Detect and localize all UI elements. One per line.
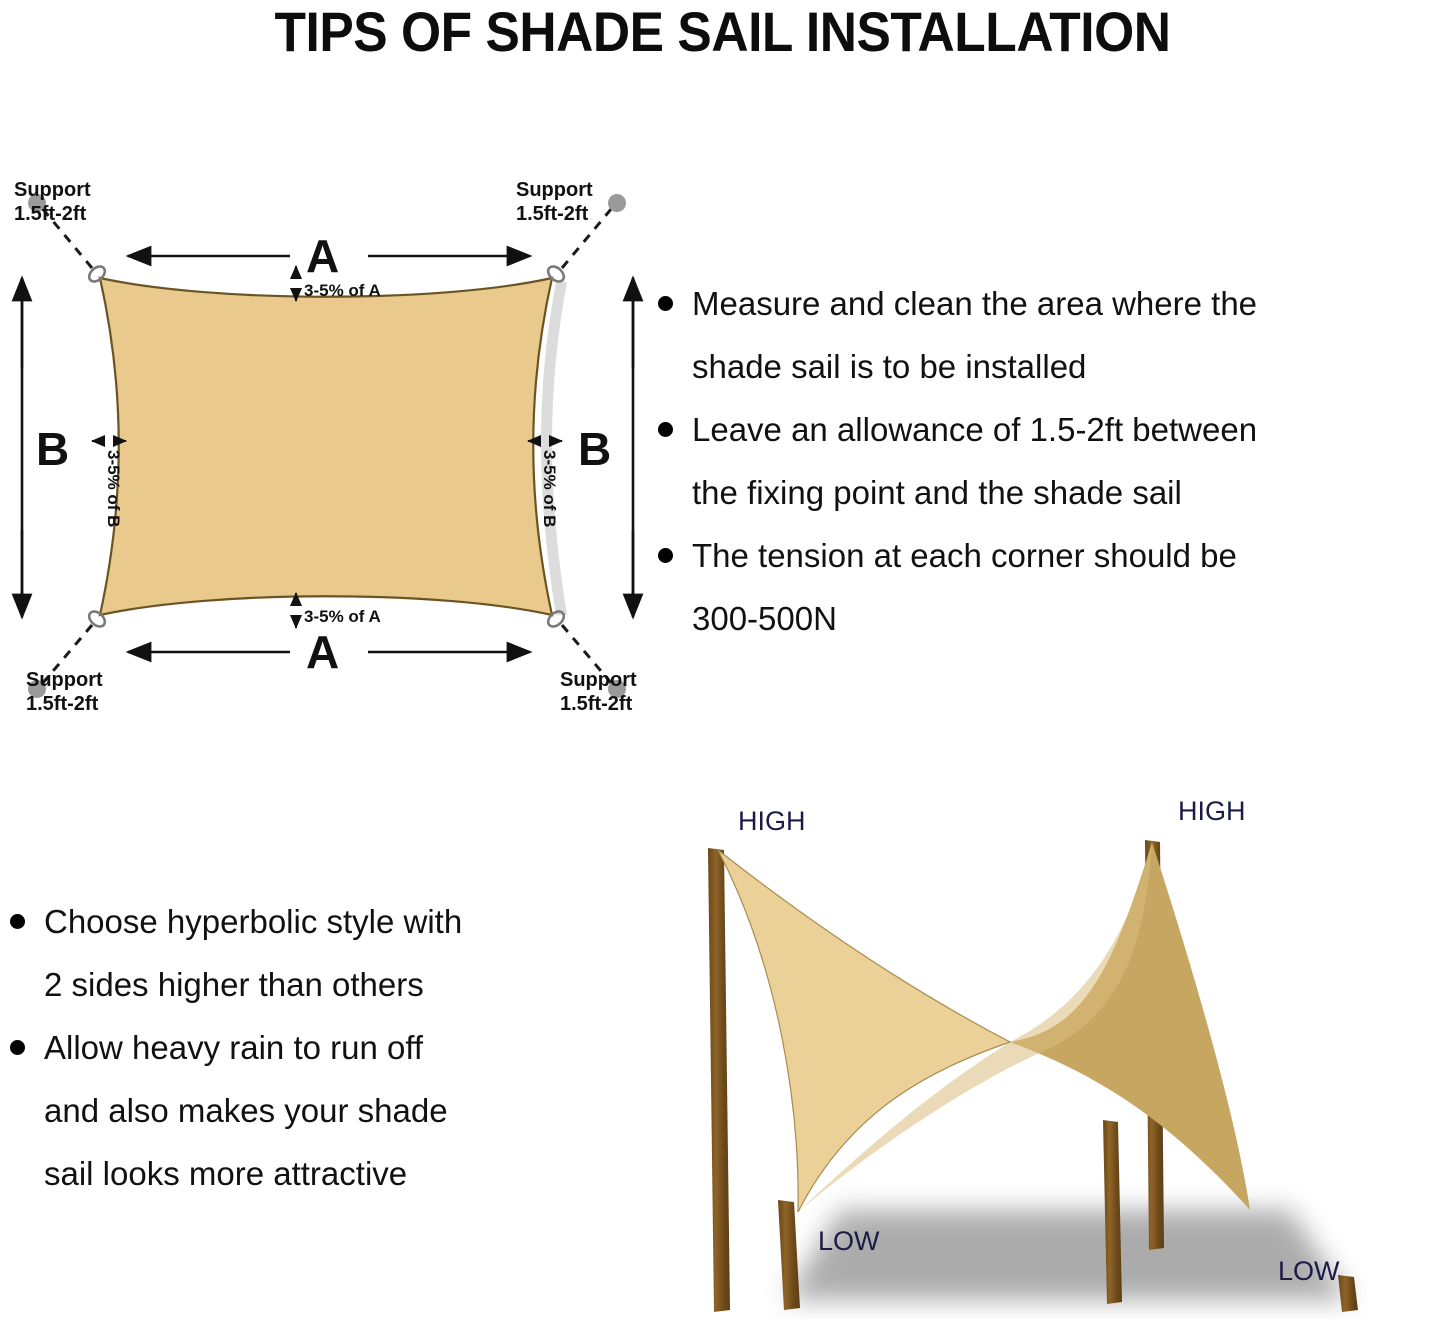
label-high-right: HIGH (1178, 796, 1246, 826)
bullet-text-line: Measure and clean the area where the (692, 285, 1257, 322)
label-low-right: LOW (1278, 1256, 1340, 1286)
tips-list-bottom-left: Choose hyperbolic style with 2 sides hig… (0, 890, 630, 1205)
page-title: TIPS OF SHADE SAIL INSTALLATION (58, 0, 1387, 62)
bullet-text-line: Allow heavy rain to run off (44, 1029, 423, 1066)
support-label-top-left-line1: Support (14, 179, 91, 201)
bullet-text-line: and also makes your shade (44, 1092, 448, 1129)
support-label-bottom-left-line1: Support (26, 669, 103, 691)
list-item: Measure and clean the area where the sha… (648, 272, 1445, 398)
bullet-text-line: sail looks more attractive (44, 1155, 407, 1192)
post-low-right (1338, 1275, 1358, 1312)
support-label-top-left-line2: 1.5ft-2ft (14, 203, 87, 225)
dimension-label-A-bottom: A (306, 626, 339, 678)
support-label-top-right-line2: 1.5ft-2ft (516, 203, 589, 225)
bullet-dot-icon (10, 1040, 25, 1055)
tips-list-top-right: Measure and clean the area where the sha… (648, 272, 1445, 650)
curvature-label-bottom: 3-5% of A (304, 607, 381, 626)
bullet-text-line: The tension at each corner should be (692, 537, 1237, 574)
bullet-dot-icon (658, 548, 673, 563)
support-label-top-right-line1: Support (516, 179, 593, 201)
dimension-label-A-top: A (306, 230, 339, 282)
curvature-label-left: 3-5% of B (104, 450, 123, 527)
support-dot-top-right (608, 194, 626, 212)
support-label-bottom-left-line2: 1.5ft-2ft (26, 693, 99, 715)
hyperbolic-shade-sail-illustration: HIGH HIGH LOW LOW (690, 780, 1445, 1319)
list-item: The tension at each corner should be 300… (648, 524, 1445, 650)
curvature-label-right: 3-5% of B (540, 450, 559, 527)
rectangular-shade-sail-dimension-diagram: Support 1.5ft-2ft Support 1.5ft-2ft Supp… (0, 160, 660, 730)
bullet-text-line: Leave an allowance of 1.5-2ft between (692, 411, 1257, 448)
shade-sail-fabric (100, 278, 552, 615)
bullet-text-line: shade sail is to be installed (692, 348, 1086, 385)
support-label-bottom-right-line2: 1.5ft-2ft (560, 693, 633, 715)
infographic-page: TIPS OF SHADE SAIL INSTALLATION (0, 0, 1445, 1319)
label-low-left: LOW (818, 1226, 880, 1256)
bullet-text-line: 300-500N (692, 600, 837, 637)
curvature-label-top: 3-5% of A (304, 281, 381, 300)
sail-edge-highlight-right (541, 282, 567, 615)
dimension-label-B-right: B (578, 423, 611, 475)
bullet-dot-icon (658, 422, 673, 437)
post-high-left (708, 848, 730, 1312)
dimension-label-B-left: B (36, 423, 69, 475)
bullet-dot-icon (10, 914, 25, 929)
bullet-text-line: the fixing point and the shade sail (692, 474, 1182, 511)
label-high-left: HIGH (738, 806, 806, 836)
list-item: Allow heavy rain to run off and also mak… (0, 1016, 630, 1205)
list-item: Leave an allowance of 1.5-2ft between th… (648, 398, 1445, 524)
post-low-left (778, 1200, 800, 1310)
support-label-bottom-right-line1: Support (560, 669, 637, 691)
list-item: Choose hyperbolic style with 2 sides hig… (0, 890, 630, 1016)
bullet-dot-icon (658, 296, 673, 311)
bullet-text-line: Choose hyperbolic style with (44, 903, 462, 940)
bullet-text-line: 2 sides higher than others (44, 966, 424, 1003)
